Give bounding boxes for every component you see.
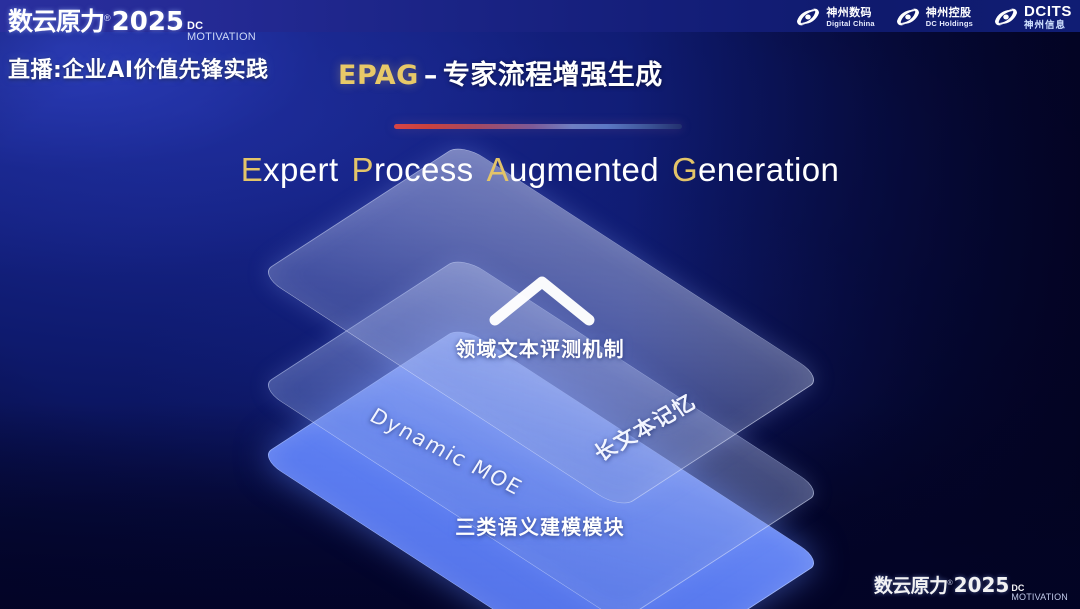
corp-name-en: Digital China: [826, 20, 874, 28]
subtitle-word-augmented: Augmented: [487, 151, 659, 188]
brand-logo: 数云原力®2025 DC MOTIVATION: [8, 2, 256, 44]
brand-motivation-label: MOTIVATION: [187, 31, 256, 43]
corporate-logo-digital-china: 神州数码 Digital China: [795, 6, 874, 28]
brand-name-cn: 数云原力: [8, 2, 104, 38]
corp-name-en: DC Holdings: [926, 20, 973, 28]
watermark-name-cn: 数云原力: [874, 571, 948, 598]
title-dash: –: [424, 60, 438, 91]
subtitle-expansion: ExpertProcessAugmentedGeneration: [0, 151, 1080, 189]
corp-name-cn: 神州信息: [1024, 21, 1072, 31]
watermark-year: 2025: [954, 573, 1010, 597]
corp-name-en: DCITS: [1024, 4, 1072, 19]
watermark-dc-motivation: DC MOTIVATION: [1011, 585, 1068, 602]
subtitle-word-expert: Expert: [241, 151, 339, 188]
stack-layer-bottom-label: 三类语义建模模块: [0, 511, 1080, 540]
subtitle-rest: rocess: [374, 151, 474, 188]
swirl-logo-icon: [895, 6, 921, 28]
watermark-logo: 数云原力®2025 DC MOTIVATION: [874, 571, 1068, 603]
watermark-registered-mark: ®: [947, 580, 952, 587]
title-acronym: EPAG: [338, 60, 419, 91]
subtitle-rest: xpert: [263, 151, 338, 188]
corporate-logo-dc-holdings: 神州控股 DC Holdings: [895, 6, 973, 28]
presentation-slide: 数云原力®2025 DC MOTIVATION 直播:企业AI价值先锋实践 神州…: [0, 0, 1080, 609]
brand-year: 2025: [112, 7, 184, 37]
swirl-logo-icon: [795, 6, 821, 28]
subtitle-rest: eneration: [698, 151, 839, 188]
subtitle-word-process: Process: [352, 151, 474, 188]
corporate-logo-text: DCITS 神州信息: [1024, 4, 1072, 31]
title-subtitle-cn: 专家流程增强生成: [443, 60, 663, 91]
corp-name-cn: 神州控股: [926, 7, 973, 18]
live-broadcast-title: 直播:企业AI价值先锋实践: [8, 52, 269, 84]
corporate-logo-text: 神州控股 DC Holdings: [926, 7, 973, 28]
corporate-logo-dcits: DCITS 神州信息: [993, 4, 1072, 31]
subtitle-capital: E: [241, 151, 263, 188]
watermark-motivation-label: MOTIVATION: [1011, 592, 1068, 602]
brand-registered-mark: ®: [104, 13, 111, 23]
brand-dc-motivation: DC MOTIVATION: [187, 22, 256, 43]
subtitle-capital: P: [352, 151, 374, 188]
corporate-logo-text: 神州数码 Digital China: [826, 7, 874, 28]
subtitle-capital: A: [487, 151, 509, 188]
subtitle-rest: ugmented: [509, 151, 659, 188]
corp-name-cn: 神州数码: [826, 7, 874, 18]
subtitle-capital: G: [672, 151, 698, 188]
page-title: EPAG–专家流程增强生成: [338, 53, 663, 92]
corporate-logo-group: 神州数码 Digital China 神州控股 DC Holdings: [795, 4, 1072, 31]
brand-dc-label: DC: [187, 22, 256, 31]
swirl-logo-icon: [993, 6, 1019, 28]
chevron-up-icon: [487, 272, 597, 328]
gradient-divider: [394, 124, 682, 129]
watermark-dc-label: DC: [1011, 585, 1068, 592]
stack-layer-top-label: 领域文本评测机制: [0, 333, 1080, 362]
subtitle-word-generation: Generation: [672, 151, 839, 188]
